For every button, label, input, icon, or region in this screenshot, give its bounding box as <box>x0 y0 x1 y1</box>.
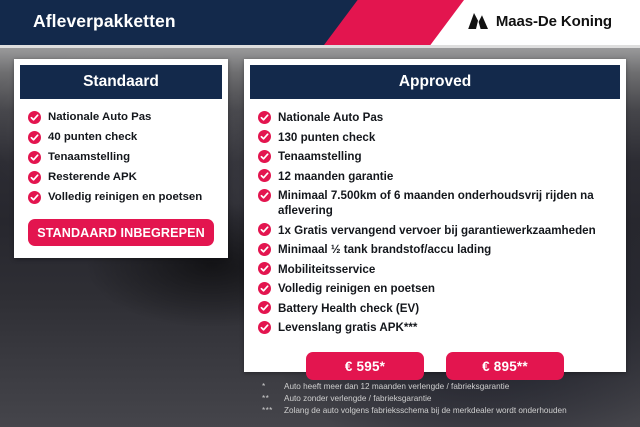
check-circle-icon <box>258 301 271 314</box>
package-card-approved: Approved Nationale Auto Pas 130 punten c… <box>244 59 626 372</box>
check-circle-icon <box>28 111 41 124</box>
feature-label: Minimaal 7.500km of 6 maanden onderhouds… <box>278 188 616 218</box>
feature-list-approved: Nationale Auto Pas 130 punten check Tena… <box>244 110 626 335</box>
check-circle-icon <box>258 169 271 182</box>
list-item: 130 punten check <box>258 130 616 145</box>
check-circle-icon <box>258 223 271 236</box>
feature-label: 40 punten check <box>48 130 137 144</box>
list-item: Tenaamstelling <box>258 149 616 164</box>
header-divider <box>0 45 640 48</box>
check-circle-icon <box>28 151 41 164</box>
footnote-marker: ** <box>262 393 284 405</box>
standaard-cta-wrap: STANDAARD INBEGREPEN <box>14 210 228 246</box>
check-circle-icon <box>258 150 271 163</box>
standaard-inbegrepen-button[interactable]: STANDAARD INBEGREPEN <box>28 219 214 246</box>
package-title-approved: Approved <box>250 65 620 99</box>
list-item: Minimaal ½ tank brandstof/accu lading <box>258 242 616 257</box>
package-body-approved: Nationale Auto Pas 130 punten check Tena… <box>244 99 626 380</box>
check-circle-icon <box>258 189 271 202</box>
package-title-standaard: Standaard <box>20 65 222 99</box>
feature-label: Volledig reinigen en poetsen <box>48 190 202 204</box>
check-circle-icon <box>258 282 271 295</box>
price-button-895[interactable]: € 895** <box>446 352 564 380</box>
footnote-item: ** Auto zonder verlengde / fabrieksgaran… <box>262 393 632 405</box>
footnote-text: Auto zonder verlengde / fabrieksgarantie <box>284 393 632 405</box>
list-item: Minimaal 7.500km of 6 maanden onderhouds… <box>258 188 616 218</box>
footnotes: * Auto heeft meer dan 12 maanden verleng… <box>262 381 632 417</box>
list-item: Mobiliteitsservice <box>258 262 616 277</box>
check-circle-icon <box>258 262 271 275</box>
list-item: Resterende APK <box>28 170 218 184</box>
brand-logo: Maas-De Koning <box>467 12 612 30</box>
list-item: Battery Health check (EV) <box>258 301 616 316</box>
page-header: Afleverpakketten Maas-De Koning <box>0 0 640 45</box>
check-circle-icon <box>258 243 271 256</box>
footnote-marker: * <box>262 381 284 393</box>
afleverpakketten-slide: Afleverpakketten Maas-De Koning Standaar… <box>0 0 640 427</box>
list-item: Volledig reinigen en poetsen <box>28 190 218 204</box>
package-card-standaard: Standaard Nationale Auto Pas 40 punten c… <box>14 59 228 258</box>
feature-label: Volledig reinigen en poetsen <box>278 281 435 296</box>
footnote-marker: *** <box>262 405 284 417</box>
list-item: Tenaamstelling <box>28 150 218 164</box>
check-circle-icon <box>258 321 271 334</box>
check-circle-icon <box>28 171 41 184</box>
check-circle-icon <box>258 130 271 143</box>
list-item: 40 punten check <box>28 130 218 144</box>
price-button-595[interactable]: € 595* <box>306 352 424 380</box>
feature-label: Tenaamstelling <box>278 149 362 164</box>
feature-label: Battery Health check (EV) <box>278 301 419 316</box>
list-item: 12 maanden garantie <box>258 169 616 184</box>
package-body-standaard: Nationale Auto Pas 40 punten check Tenaa… <box>14 99 228 246</box>
feature-label: Mobiliteitsservice <box>278 262 375 277</box>
price-button-row: € 595* € 895** <box>244 340 626 380</box>
feature-label: 1x Gratis vervangend vervoer bij garanti… <box>278 223 596 238</box>
footnote-text: Auto heeft meer dan 12 maanden verlengde… <box>284 381 632 393</box>
footnote-item: * Auto heeft meer dan 12 maanden verleng… <box>262 381 632 393</box>
feature-list-standaard: Nationale Auto Pas 40 punten check Tenaa… <box>14 110 228 204</box>
feature-label: Resterende APK <box>48 170 137 184</box>
footnote-text: Zolang de auto volgens fabrieksschema bi… <box>284 405 632 417</box>
feature-label: Nationale Auto Pas <box>278 110 383 125</box>
list-item: Levenslang gratis APK*** <box>258 320 616 335</box>
footnote-item: *** Zolang de auto volgens fabrieksschem… <box>262 405 632 417</box>
check-circle-icon <box>258 111 271 124</box>
list-item: 1x Gratis vervangend vervoer bij garanti… <box>258 223 616 238</box>
list-item: Nationale Auto Pas <box>28 110 218 124</box>
feature-label: Nationale Auto Pas <box>48 110 151 124</box>
feature-label: Minimaal ½ tank brandstof/accu lading <box>278 242 491 257</box>
feature-label: 12 maanden garantie <box>278 169 393 184</box>
check-circle-icon <box>28 191 41 204</box>
brand-name: Maas-De Koning <box>496 13 612 30</box>
maas-de-koning-m-logo-icon <box>467 12 489 30</box>
page-title: Afleverpakketten <box>33 11 176 32</box>
feature-label: 130 punten check <box>278 130 375 145</box>
check-circle-icon <box>28 131 41 144</box>
list-item: Volledig reinigen en poetsen <box>258 281 616 296</box>
list-item: Nationale Auto Pas <box>258 110 616 125</box>
feature-label: Tenaamstelling <box>48 150 130 164</box>
feature-label: Levenslang gratis APK*** <box>278 320 417 335</box>
